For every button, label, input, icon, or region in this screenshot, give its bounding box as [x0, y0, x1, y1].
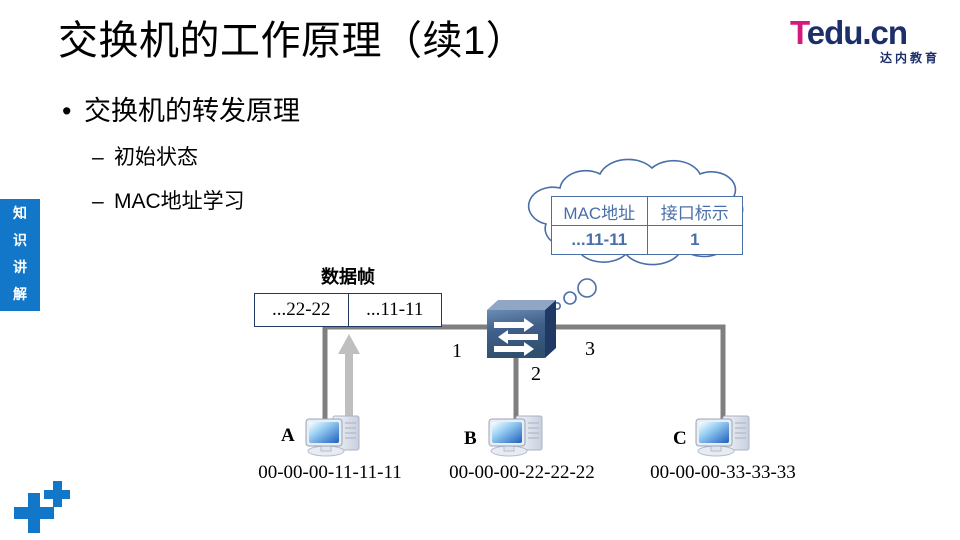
- port-label-1: 1: [452, 340, 462, 363]
- port-label-3: 3: [585, 338, 595, 361]
- network-diagram: [0, 0, 960, 540]
- host-icon-a: [306, 416, 359, 456]
- frame-label: 数据帧: [254, 263, 442, 289]
- link-c-to-switch: [535, 327, 723, 420]
- host-label-c: C: [673, 428, 687, 450]
- frame-dest-mac: ...22-22: [255, 294, 349, 327]
- port-label-2: 2: [531, 363, 541, 386]
- table-header-row: MAC地址 接口标示: [552, 197, 743, 226]
- table-row: ...22-22 ...11-11: [255, 294, 442, 327]
- switch-icon: [487, 300, 556, 358]
- mac-table-cell-address: ...11-11: [552, 226, 648, 255]
- host-icon-c: [696, 416, 749, 456]
- mac-address-table: MAC地址 接口标示 ...11-11 1: [551, 196, 743, 255]
- host-label-a: A: [281, 425, 295, 447]
- host-mac-a: 00-00-00-11-11-11: [247, 462, 413, 484]
- data-frame-box: ...22-22 ...11-11: [254, 293, 442, 327]
- host-label-b: B: [464, 428, 477, 450]
- mac-table-header-port: 接口标示: [647, 197, 742, 226]
- frame-src-mac: ...11-11: [348, 294, 441, 327]
- host-icon-b: [489, 416, 542, 456]
- slide-canvas: 交换机的工作原理（续1） Tedu.cn 达内教育 •交换机的转发原理 –初始状…: [0, 0, 960, 540]
- flow-arrow-up: [338, 334, 360, 422]
- mac-table-cell-port: 1: [647, 226, 742, 255]
- host-mac-c: 00-00-00-33-33-33: [638, 462, 808, 484]
- table-row: ...11-11 1: [552, 226, 743, 255]
- host-mac-b: 00-00-00-22-22-22: [438, 462, 606, 484]
- mac-table-header-address: MAC地址: [552, 197, 648, 226]
